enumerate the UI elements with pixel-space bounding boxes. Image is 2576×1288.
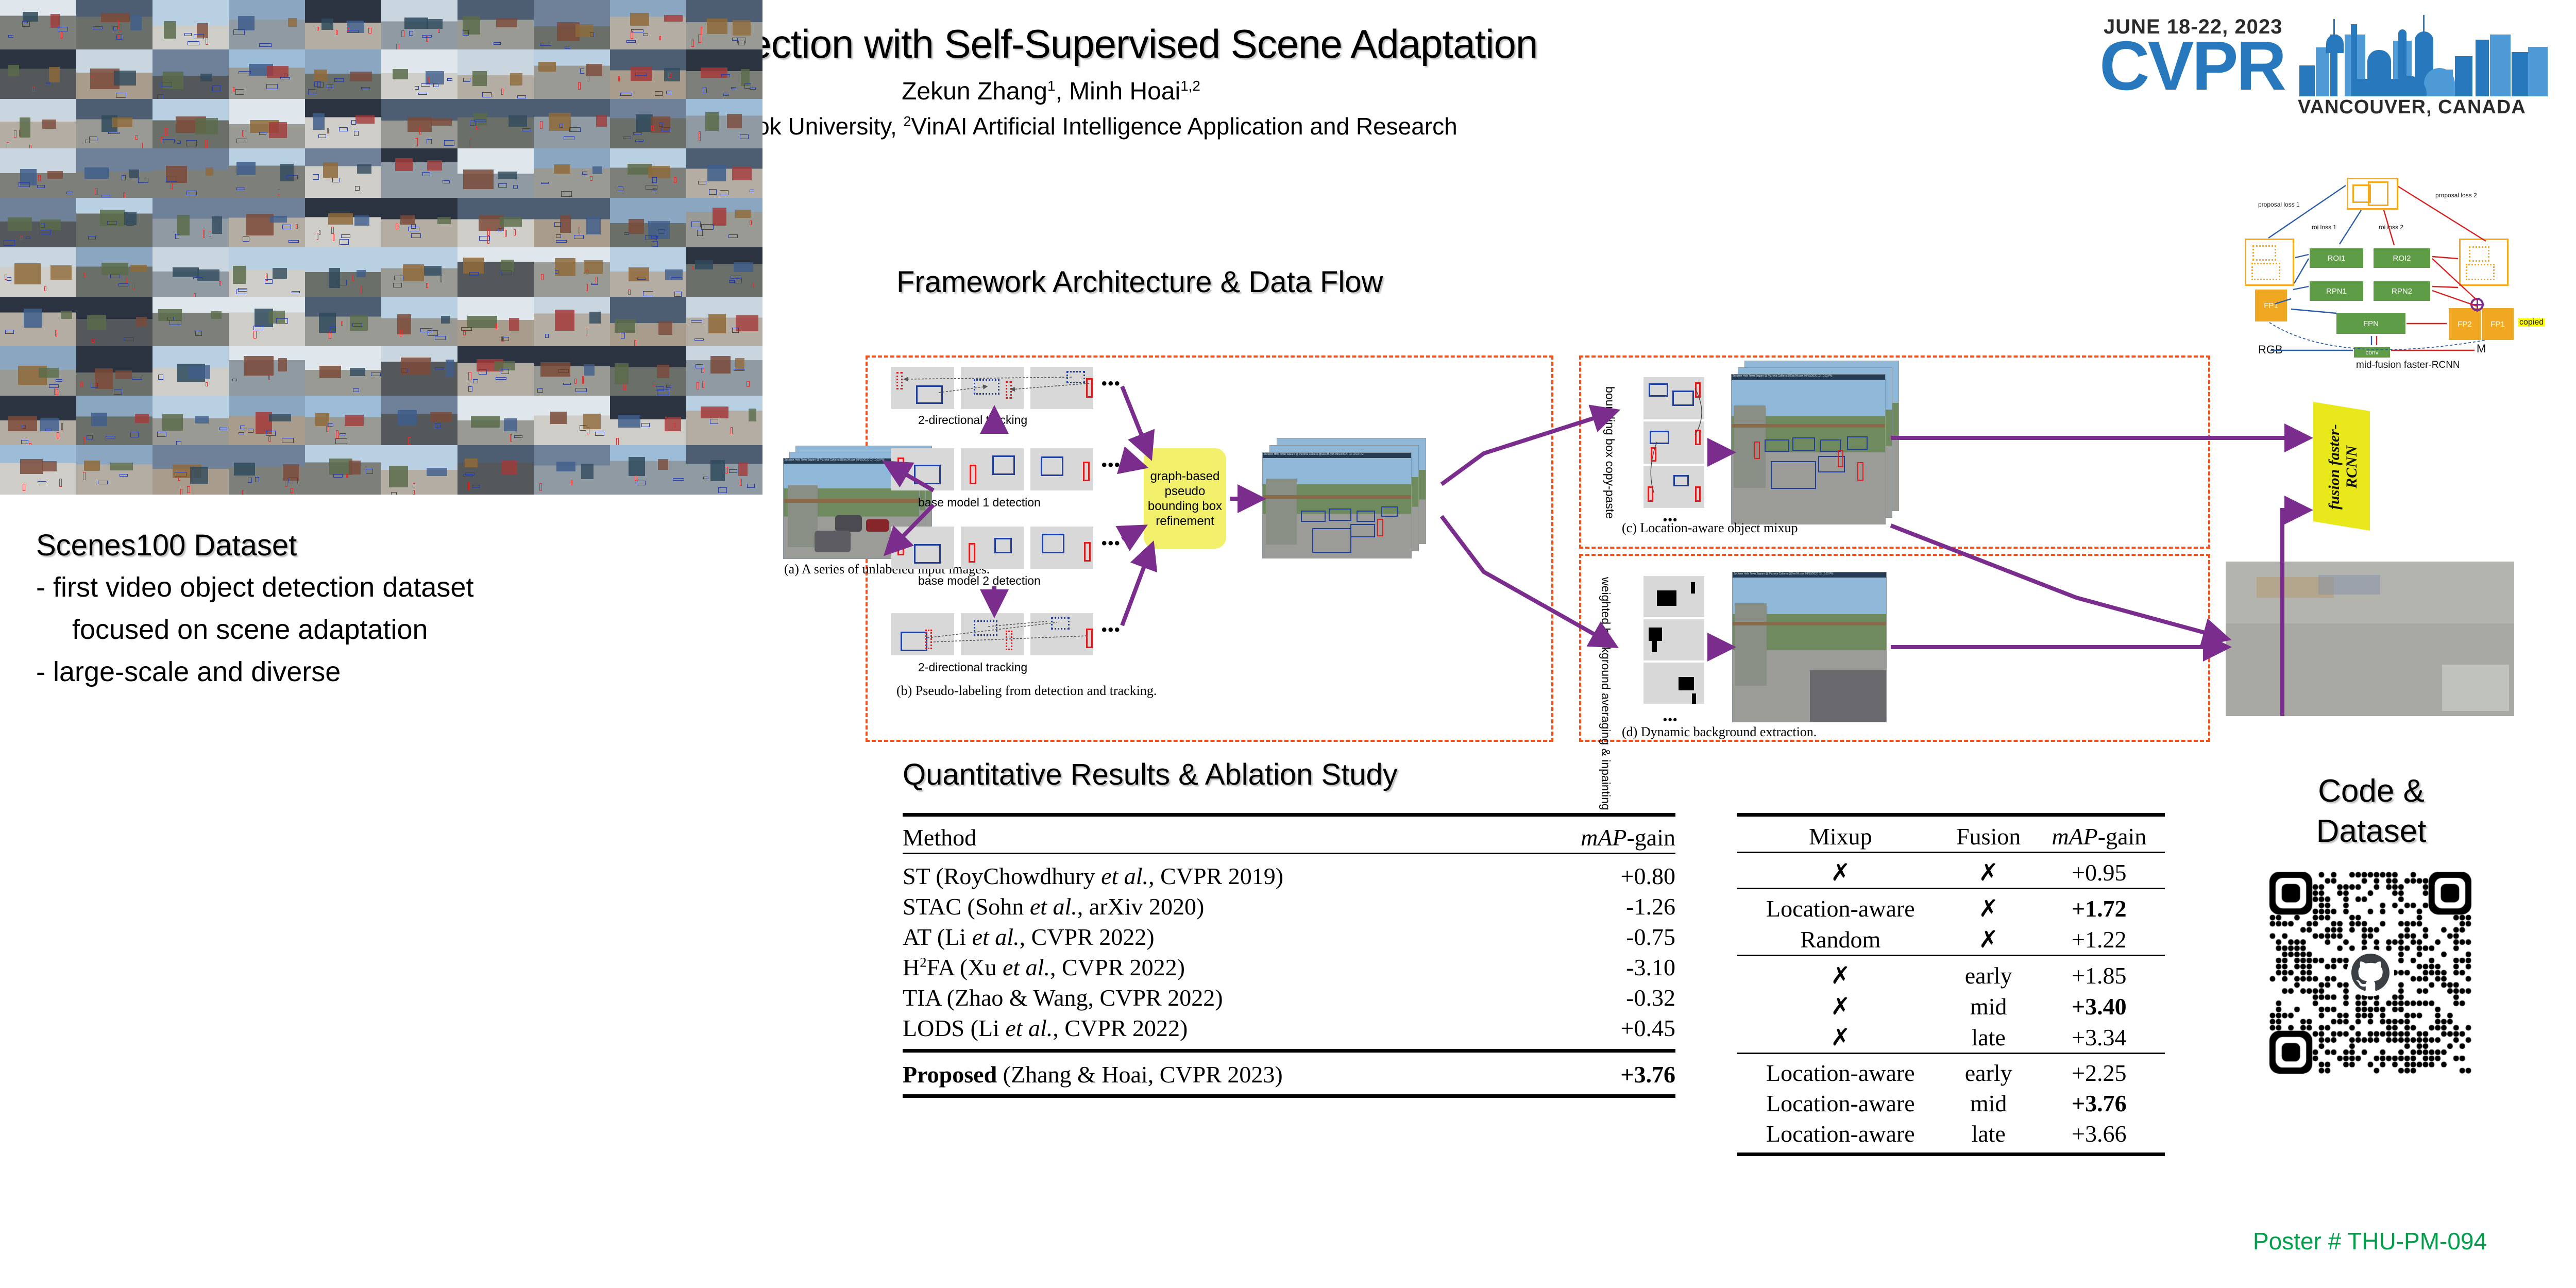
- cell-gain: +0.80: [1521, 854, 1675, 892]
- ellipsis-2: •••: [1101, 456, 1121, 474]
- table-row: H2FA (Xu et al., CVPR 2022) -3.10: [903, 952, 1675, 982]
- mosaic-thumbnail: [152, 297, 229, 346]
- mosaic-thumbnail: [0, 198, 76, 247]
- mosaic-thumbnail: [457, 148, 534, 198]
- cell-gain: +3.40: [2033, 991, 2165, 1022]
- framework-diagram: Jackson Hole Town Square @ Pizzeria Cald…: [788, 355, 2576, 752]
- mosaic-thumbnail: [457, 99, 534, 148]
- cell-fusion: mid: [1944, 1088, 2033, 1118]
- mosaic-thumbnail: [152, 396, 229, 445]
- mosaic-thumbnail: [686, 49, 762, 99]
- mosaic-thumbnail: [686, 346, 762, 396]
- gt-box-center: [2347, 178, 2398, 210]
- mosaic-thumbnail: [457, 0, 534, 49]
- sum-node-icon: [2470, 298, 2484, 311]
- gt-box-left: [2245, 239, 2294, 286]
- mosaic-thumbnail: [76, 49, 152, 99]
- cell-gain: +1.85: [2033, 956, 2165, 991]
- table-row: ST (RoyChowdhury et al., CVPR 2019) +0.8…: [903, 854, 1675, 892]
- col-fusion-header: Fusion: [1944, 815, 2033, 853]
- cell-mixup: Random: [1737, 924, 1944, 956]
- mosaic-thumbnail: [0, 247, 76, 297]
- mosaic-thumbnail: [152, 445, 229, 495]
- mosaic-thumbnail: [229, 99, 305, 148]
- affil-2: VinAI Artificial Intelligence Applicatio…: [911, 113, 1457, 140]
- mosaic-thumbnail: [76, 445, 152, 495]
- mosaic-thumbnail: [686, 396, 762, 445]
- node-rpn2: RPN2: [2374, 281, 2430, 301]
- node-fp2: FP2: [2449, 308, 2481, 340]
- mosaic-thumbnail: [457, 346, 534, 396]
- cell-fusion: ✗: [1944, 853, 2033, 889]
- mosaic-thumbnail: [0, 49, 76, 99]
- mosaic-thumbnail: [0, 346, 76, 396]
- ablation-table: Mixup Fusion mAP-gain ✗ ✗ +0.95 Location…: [1737, 813, 2165, 1156]
- mosaic-thumbnail: [76, 396, 152, 445]
- mosaic-thumbnail: [381, 198, 457, 247]
- ellipsis-4: •••: [1101, 621, 1121, 639]
- mosaic-thumbnail: [305, 346, 381, 396]
- results-heading: Quantitative Results & Ablation Study: [903, 757, 1398, 792]
- main-results-table: Method mAP-gain ST (RoyChowdhury et al.,…: [903, 813, 1675, 1098]
- graph-refinement-box: graph-based pseudo bounding box refineme…: [1144, 448, 1226, 549]
- cell-mixup: Location-aware: [1737, 1054, 1944, 1089]
- cell-fusion: early: [1944, 1054, 2033, 1089]
- cell-fusion: late: [1944, 1118, 2033, 1155]
- label-bounding-box-copy-paste: bounding box copy-paste: [1603, 386, 1617, 495]
- mosaic-thumbnail: [381, 445, 457, 495]
- mosaic-thumbnail: [457, 297, 534, 346]
- mosaic-thumbnail: [381, 148, 457, 198]
- refined-frame-overlay: Jackson Hole Town Square @ Pizzeria Cald…: [1263, 453, 1411, 458]
- mosaic-thumbnail: [381, 99, 457, 148]
- background-output-image: Jackson Hole Town Square @ Pizzeria Cald…: [1732, 572, 1887, 722]
- fusion-faster-rcnn-node: fusion faster-RCNN: [2308, 402, 2375, 531]
- table-header-row: Method mAP-gain: [903, 815, 1675, 854]
- ellipsis-1: •••: [1101, 375, 1121, 393]
- table-row: ✗ late +3.34: [1737, 1022, 2165, 1054]
- cell-gain: +1.72: [2033, 889, 2165, 924]
- fusion-node-label: fusion faster-RCNN: [2326, 420, 2341, 513]
- final-output-image: [2226, 562, 2514, 716]
- cell-gain-proposed: +3.76: [1521, 1051, 1675, 1096]
- mosaic-thumbnail: [686, 297, 762, 346]
- cell-gain: -0.75: [1521, 922, 1675, 952]
- mosaic-thumbnail: [305, 148, 381, 198]
- mosaic-thumbnail: [534, 247, 610, 297]
- mosaic-thumbnail: [686, 0, 762, 49]
- ablation-header-row: Mixup Fusion mAP-gain: [1737, 815, 2165, 853]
- cell-mixup: Location-aware: [1737, 889, 1944, 924]
- col-mixup-header: Mixup: [1737, 815, 1944, 853]
- mosaic-thumbnail: [610, 247, 686, 297]
- label-base-model-2: base model 2 detection: [918, 574, 1041, 588]
- mosaic-thumbnail: [229, 49, 305, 99]
- label-roi-loss-1: roi loss 1: [2312, 224, 2336, 231]
- mosaic-thumbnail: [229, 297, 305, 346]
- mosaic-thumbnail: [229, 396, 305, 445]
- cell-mixup: ✗: [1737, 1022, 1944, 1054]
- cell-gain: +0.45: [1521, 1013, 1675, 1051]
- mosaic-thumbnail: [76, 0, 152, 49]
- mosaic-thumbnail: [381, 396, 457, 445]
- cell-gain: -1.26: [1521, 891, 1675, 922]
- label-weighted-background: weighted background averaging & inpainti…: [1599, 577, 1613, 711]
- cell-method: STAC (Sohn et al., arXiv 2020): [903, 891, 1521, 922]
- mosaic-thumbnail: [229, 445, 305, 495]
- dataset-bullet-1: - first video object detection dataset: [36, 568, 473, 607]
- col-gain-header: mAP-gain: [2033, 815, 2165, 853]
- cell-mixup: Location-aware: [1737, 1118, 1944, 1155]
- mosaic-thumbnail: [76, 148, 152, 198]
- cell-fusion: mid: [1944, 991, 2033, 1022]
- mosaic-thumbnail: [686, 247, 762, 297]
- cell-fusion: ✗: [1944, 889, 2033, 924]
- author-2: , Minh Hoai: [1055, 78, 1180, 105]
- mosaic-thumbnail: [381, 49, 457, 99]
- mosaic-thumbnail: [457, 49, 534, 99]
- author-2-affil-mark: 1,2: [1180, 78, 1200, 94]
- mosaic-thumbnail: [534, 0, 610, 49]
- mosaic-thumbnail: [0, 445, 76, 495]
- node-fpn: FPN: [2336, 313, 2405, 334]
- dataset-bullet-1-cont: focused on scene adaptation: [72, 610, 428, 649]
- mosaic-thumbnail: [381, 297, 457, 346]
- mosaic-thumbnail: [534, 49, 610, 99]
- table-row: Location-aware late +3.66: [1737, 1118, 2165, 1155]
- mosaic-thumbnail: [610, 297, 686, 346]
- mosaic-thumbnail: [76, 99, 152, 148]
- code-heading-line2: Dataset: [2231, 813, 2512, 850]
- mosaic-thumbnail: [457, 396, 534, 445]
- mosaic-thumbnail: [534, 396, 610, 445]
- mosaic-thumbnail: [152, 0, 229, 49]
- bg-frame-overlay: Jackson Hole Town Square @ Pizzeria Cald…: [1733, 572, 1886, 578]
- mosaic-thumbnail: [229, 346, 305, 396]
- cell-method: TIA (Zhao & Wang, CVPR 2022): [903, 982, 1521, 1013]
- cell-gain: +3.76: [2033, 1088, 2165, 1118]
- framework-heading: Framework Architecture & Data Flow: [896, 265, 1383, 299]
- mosaic-thumbnail: [610, 99, 686, 148]
- mosaic-thumbnail: [457, 198, 534, 247]
- cell-method: AT (Li et al., CVPR 2022): [903, 922, 1521, 952]
- table-row: ✗ mid +3.40: [1737, 991, 2165, 1022]
- mid-fusion-network-diagram: ROI1 ROI2 RPN1 RPN2 FPN conv FP1 FP2 FP1…: [2244, 180, 2576, 355]
- mosaic-thumbnail: [152, 148, 229, 198]
- mosaic-thumbnail: [152, 198, 229, 247]
- table-row: Location-aware early +2.25: [1737, 1054, 2165, 1089]
- dataset-bullet-2: - large-scale and diverse: [36, 652, 341, 691]
- mosaic-thumbnail: [305, 99, 381, 148]
- mosaic-thumbnail: [534, 346, 610, 396]
- cell-fusion: late: [1944, 1022, 2033, 1054]
- label-proposal-loss-1: proposal loss 1: [2258, 201, 2300, 208]
- mosaic-thumbnail: [0, 148, 76, 198]
- mosaic-thumbnail: [229, 0, 305, 49]
- cell-mixup: ✗: [1737, 956, 1944, 991]
- table-row: STAC (Sohn et al., arXiv 2020) -1.26: [903, 891, 1675, 922]
- label-copied: copied: [2518, 318, 2545, 327]
- affil-mark-2: 2: [904, 114, 911, 129]
- cvpr-logo: JUNE 18-22, 2023 CVPR VANCOUVER, CANADA: [2099, 6, 2563, 161]
- mosaic-thumbnail: [686, 148, 762, 198]
- node-fp1-right: FP1: [2482, 308, 2514, 340]
- poster-number: Poster # THU-PM-094: [2221, 1227, 2519, 1255]
- vancouver-skyline-icon: [2295, 11, 2558, 96]
- mosaic-thumbnail: [305, 445, 381, 495]
- author-1-affil-mark: 1: [1047, 78, 1055, 94]
- cell-gain: -3.10: [1521, 952, 1675, 982]
- mosaic-thumbnail: [152, 49, 229, 99]
- cell-gain: +1.22: [2033, 924, 2165, 956]
- cell-method: H2FA (Xu et al., CVPR 2022): [903, 952, 1521, 982]
- cell-method-proposed: Proposed (Zhang & Hoai, CVPR 2023): [903, 1051, 1521, 1096]
- mosaic-thumbnail: [610, 0, 686, 49]
- author-1: Zekun Zhang: [902, 78, 1047, 105]
- mosaic-thumbnail: [229, 148, 305, 198]
- mosaic-thumbnail: [305, 0, 381, 49]
- table-row: Random ✗ +1.22: [1737, 924, 2165, 956]
- mosaic-thumbnail: [610, 49, 686, 99]
- mosaic-thumbnail: [534, 445, 610, 495]
- mosaic-thumbnail: [152, 247, 229, 297]
- cell-gain: +3.66: [2033, 1118, 2165, 1155]
- table-row: TIA (Zhao & Wang, CVPR 2022) -0.32: [903, 982, 1675, 1013]
- mosaic-thumbnail: [610, 346, 686, 396]
- mosaic-thumbnail: [305, 198, 381, 247]
- gt-box-right: [2459, 239, 2509, 286]
- mosaic-thumbnail: [0, 0, 76, 49]
- mosaic-thumbnail: [305, 396, 381, 445]
- table-row: LODS (Li et al., CVPR 2022) +0.45: [903, 1013, 1675, 1051]
- label-tracking-top: 2-directional tracking: [918, 413, 1027, 427]
- mosaic-thumbnail: [534, 148, 610, 198]
- mosaic-thumbnail: [305, 49, 381, 99]
- label-rgb: RGB: [2258, 346, 2283, 353]
- cell-fusion: early: [1944, 956, 2033, 991]
- node-rpn1: RPN1: [2310, 281, 2363, 301]
- mosaic-thumbnail: [381, 0, 457, 49]
- mosaic-thumbnail: [152, 346, 229, 396]
- table-row: Location-aware mid +3.76: [1737, 1088, 2165, 1118]
- mosaic-thumbnail: [229, 247, 305, 297]
- table-row-proposed: Proposed (Zhang & Hoai, CVPR 2023) +3.76: [903, 1051, 1675, 1096]
- cvpr-location: VANCOUVER, CANADA: [2298, 96, 2526, 118]
- refined-output-stack: Jackson Hole Town Square @ Pizzeria Cald…: [1262, 438, 1432, 567]
- mosaic-thumbnail: [610, 445, 686, 495]
- mosaic-thumbnail: [534, 99, 610, 148]
- node-roi1: ROI1: [2310, 248, 2363, 268]
- cell-gain: -0.32: [1521, 982, 1675, 1013]
- mosaic-thumbnail: [686, 445, 762, 495]
- mosaic-thumbnail: [229, 198, 305, 247]
- label-base-model-1: base model 1 detection: [918, 496, 1041, 510]
- cell-method: LODS (Li et al., CVPR 2022): [903, 1013, 1521, 1051]
- mosaic-thumbnail: [457, 445, 534, 495]
- scenes100-mosaic: [0, 0, 762, 495]
- caption-c: (c) Location-aware object mixup: [1622, 520, 1798, 536]
- mixup-output-stack: Jackson Hole Town Square @ Pizzeria Cald…: [1731, 361, 1906, 520]
- mosaic-thumbnail: [305, 247, 381, 297]
- mixup-frame-overlay: Jackson Hole Town Square @ Pizzeria Cald…: [1732, 375, 1885, 380]
- cell-gain: +0.95: [2033, 853, 2165, 889]
- node-fp1-left: FP1: [2255, 290, 2287, 321]
- mosaic-thumbnail: [381, 346, 457, 396]
- mosaic-thumbnail: [76, 346, 152, 396]
- caption-b: (b) Pseudo-labeling from detection and t…: [896, 683, 1157, 699]
- mosaic-thumbnail: [152, 99, 229, 148]
- mosaic-thumbnail: [305, 297, 381, 346]
- col-gain-header: mAP-gain: [1521, 815, 1675, 854]
- mosaic-thumbnail: [610, 148, 686, 198]
- table-row: ✗ early +1.85: [1737, 956, 2165, 991]
- table-row: Location-aware ✗ +1.72: [1737, 889, 2165, 924]
- table-row: ✗ ✗ +0.95: [1737, 853, 2165, 889]
- mosaic-thumbnail: [610, 198, 686, 247]
- cell-fusion: ✗: [1944, 924, 2033, 956]
- table-row: AT (Li et al., CVPR 2022) -0.75: [903, 922, 1675, 952]
- cell-mixup: ✗: [1737, 853, 1944, 889]
- mosaic-thumbnail: [534, 297, 610, 346]
- cell-method: ST (RoyChowdhury et al., CVPR 2019): [903, 854, 1521, 892]
- cell-mixup: ✗: [1737, 991, 1944, 1022]
- label-tracking-bottom: 2-directional tracking: [918, 660, 1027, 674]
- mosaic-thumbnail: [76, 297, 152, 346]
- col-method-header: Method: [903, 815, 1521, 854]
- mosaic-thumbnail: [381, 247, 457, 297]
- cell-gain: +2.25: [2033, 1054, 2165, 1089]
- mosaic-thumbnail: [76, 198, 152, 247]
- dataset-heading: Scenes100 Dataset: [36, 528, 297, 563]
- mosaic-thumbnail: [686, 99, 762, 148]
- mosaic-thumbnail: [0, 297, 76, 346]
- ellipsis-3: •••: [1101, 535, 1121, 552]
- mosaic-thumbnail: [0, 99, 76, 148]
- cell-gain: +3.34: [2033, 1022, 2165, 1054]
- mosaic-thumbnail: [76, 247, 152, 297]
- code-heading-line1: Code &: [2231, 773, 2512, 809]
- mosaic-thumbnail: [686, 198, 762, 247]
- cvpr-wordmark: CVPR: [2099, 31, 2284, 100]
- label-roi-loss-2: roi loss 2: [2379, 224, 2403, 231]
- node-roi2: ROI2: [2374, 248, 2430, 268]
- mosaic-thumbnail: [534, 198, 610, 247]
- cell-mixup: Location-aware: [1737, 1088, 1944, 1118]
- caption-d: (d) Dynamic background extraction.: [1622, 724, 1817, 740]
- label-m: M: [2477, 345, 2486, 352]
- mosaic-thumbnail: [610, 396, 686, 445]
- label-proposal-loss-2: proposal loss 2: [2435, 192, 2477, 199]
- github-icon: [2347, 949, 2394, 996]
- mosaic-thumbnail: [0, 396, 76, 445]
- mosaic-thumbnail: [457, 247, 534, 297]
